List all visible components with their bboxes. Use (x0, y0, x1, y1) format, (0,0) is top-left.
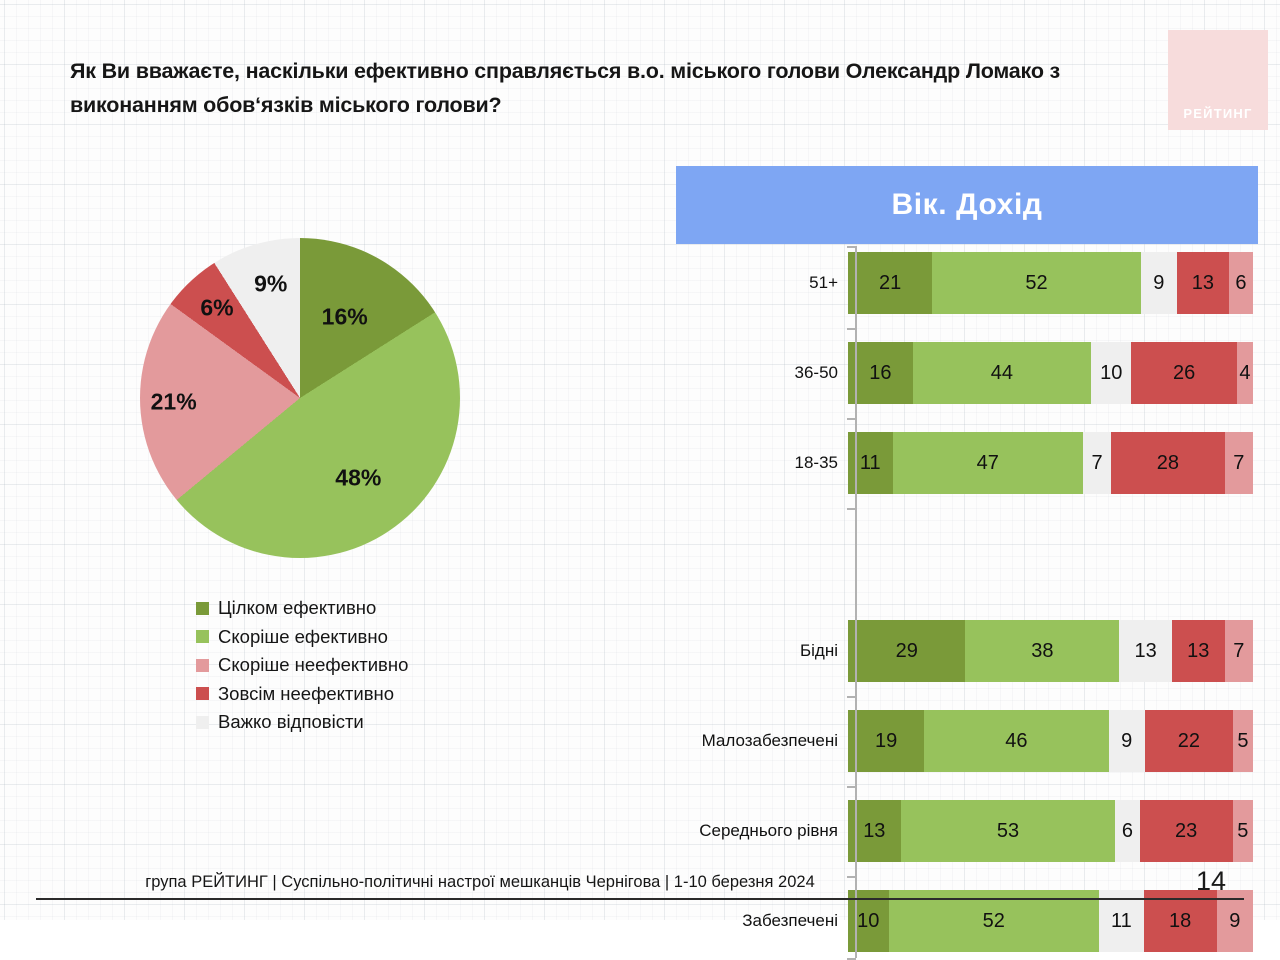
axis-tick (847, 328, 856, 330)
bar-row: 51+21529136 (676, 252, 1260, 314)
bar-segment: 26 (1131, 342, 1236, 404)
legend-swatch-icon (196, 602, 209, 615)
bar-segment: 21 (848, 252, 932, 314)
bar-row: Бідні293813137 (676, 620, 1260, 682)
bar-segment: 13 (1119, 620, 1172, 682)
footer-divider (36, 898, 1244, 900)
bar-category-label: Малозабезпечені (676, 731, 848, 751)
legend-item: Важко відповісти (196, 708, 496, 737)
bar-track: 164410264 (848, 342, 1253, 404)
bar-segment: 19 (848, 710, 924, 772)
legend-swatch-icon (196, 687, 209, 700)
bar-segment: 13 (1172, 620, 1225, 682)
rating-logo: РЕЙТИНГ (1168, 30, 1268, 130)
legend-swatch-icon (196, 659, 209, 672)
axis-tick (847, 246, 856, 248)
bar-row: 18-3511477287 (676, 432, 1260, 494)
bar-segment: 7 (1083, 432, 1111, 494)
panel-header: Вік. Дохід (676, 166, 1258, 244)
bar-segment: 4 (1237, 342, 1253, 404)
legend-swatch-icon (196, 716, 209, 729)
bar-segment: 5 (1233, 710, 1253, 772)
bar-row: 36-50164410264 (676, 342, 1260, 404)
legend-item: Цілком ефективно (196, 594, 496, 623)
bar-segment: 7 (1225, 432, 1253, 494)
pie-slice-label-3: 6% (200, 294, 233, 321)
legend-item-label: Важко відповісти (218, 713, 364, 732)
bar-segment: 6 (1115, 800, 1139, 862)
axis-tick (847, 696, 856, 698)
pie-legend: Цілком ефективноСкоріше ефективноСкоріше… (196, 594, 496, 737)
bar-segment: 52 (932, 252, 1141, 314)
bar-segment: 9 (1141, 252, 1177, 314)
bar-segment: 29 (848, 620, 965, 682)
pie-slice-label-4: 9% (254, 271, 287, 298)
legend-item-label: Скоріше неефективно (218, 656, 408, 675)
legend-item: Зовсім неефективно (196, 680, 496, 709)
bar-track: 293813137 (848, 620, 1253, 682)
bar-segment: 46 (924, 710, 1108, 772)
bar-segment: 7 (1225, 620, 1253, 682)
bar-track: 13536235 (848, 800, 1253, 862)
bar-segment: 9 (1109, 710, 1145, 772)
rating-logo-text: РЕЙТИНГ (1183, 106, 1252, 130)
page-number: 14 (1196, 866, 1226, 897)
bar-category-label: 51+ (676, 273, 848, 293)
bar-segment: 6 (1229, 252, 1253, 314)
bar-segment: 5 (1233, 800, 1253, 862)
pie-slice-label-2: 21% (151, 388, 197, 415)
bar-category-label: Забезпечені (676, 911, 848, 931)
bar-track: 19469225 (848, 710, 1253, 772)
stacked-bar-chart: 51+2152913636-5016441026418-3511477287Бі… (676, 252, 1260, 852)
axis-tick (847, 508, 856, 510)
bar-segment: 22 (1145, 710, 1233, 772)
bar-segment: 47 (893, 432, 1083, 494)
bar-category-label: 18-35 (676, 453, 848, 473)
bar-segment: 10 (1091, 342, 1132, 404)
slide-canvas: Як Ви вважаєте, наскільки ефективно спра… (0, 0, 1280, 920)
legend-swatch-icon (196, 630, 209, 643)
bar-row: Середнього рівня13536235 (676, 800, 1260, 862)
bar-track: 21529136 (848, 252, 1253, 314)
panel-header-label: Вік. Дохід (891, 188, 1042, 222)
footer-caption: група РЕЙТИНГ | Суспільно-політичні наст… (0, 873, 960, 892)
pie-slice-label-0: 16% (322, 303, 368, 330)
bar-category-label: 36-50 (676, 363, 848, 383)
bar-category-label: Бідні (676, 641, 848, 661)
pie-slice-label-1: 48% (335, 465, 381, 492)
page-title: Як Ви вважаєте, наскільки ефективно спра… (70, 54, 1120, 122)
legend-item-label: Зовсім неефективно (218, 685, 394, 704)
axis-tick (847, 418, 856, 420)
bar-segment: 38 (965, 620, 1119, 682)
legend-item: Скоріше неефективно (196, 651, 496, 680)
legend-item: Скоріше ефективно (196, 623, 496, 652)
bar-category-label: Середнього рівня (676, 821, 848, 841)
bar-segment: 13 (1177, 252, 1229, 314)
legend-item-label: Скоріше ефективно (218, 628, 388, 647)
category-axis-line (855, 246, 857, 958)
bar-segment: 28 (1111, 432, 1224, 494)
bar-segment: 44 (913, 342, 1091, 404)
bar-segment: 53 (901, 800, 1116, 862)
bar-segment: 23 (1140, 800, 1233, 862)
bar-segment: 16 (848, 342, 913, 404)
axis-tick (847, 786, 856, 788)
pie-chart: 16% 48% 21% 6% 9% (140, 238, 460, 558)
legend-item-label: Цілком ефективно (218, 599, 376, 618)
bar-track: 11477287 (848, 432, 1253, 494)
bar-row: Малозабезпечені19469225 (676, 710, 1260, 772)
